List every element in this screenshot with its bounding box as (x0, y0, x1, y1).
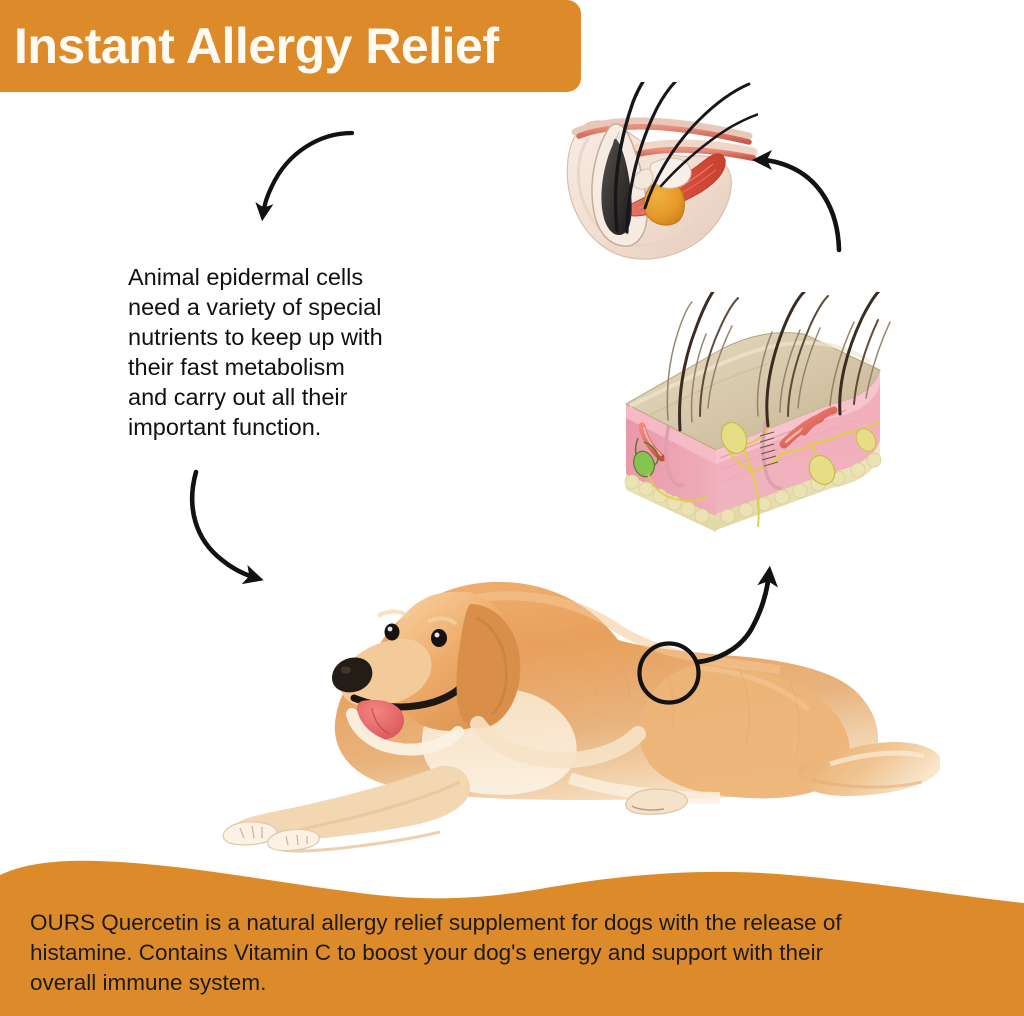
page-title: Instant Allergy Relief (0, 21, 498, 71)
allergy-relief-poster: Instant Allergy Relief Animal epidermal … (0, 0, 1024, 1016)
header-banner: Instant Allergy Relief (0, 0, 581, 92)
epidermal-cells-paragraph: Animal epidermal cells need a variety of… (128, 262, 420, 442)
arrow-to-paragraph (263, 133, 352, 214)
hair-follicle-illustration (553, 82, 758, 272)
skin-block-illustration (608, 292, 898, 550)
dog-front-legs (223, 766, 470, 851)
dog-photo (140, 548, 940, 868)
product-caption: OURS Quercetin is a natural allergy reli… (30, 908, 980, 998)
arrow-skin-block-to-follicle (760, 160, 839, 250)
